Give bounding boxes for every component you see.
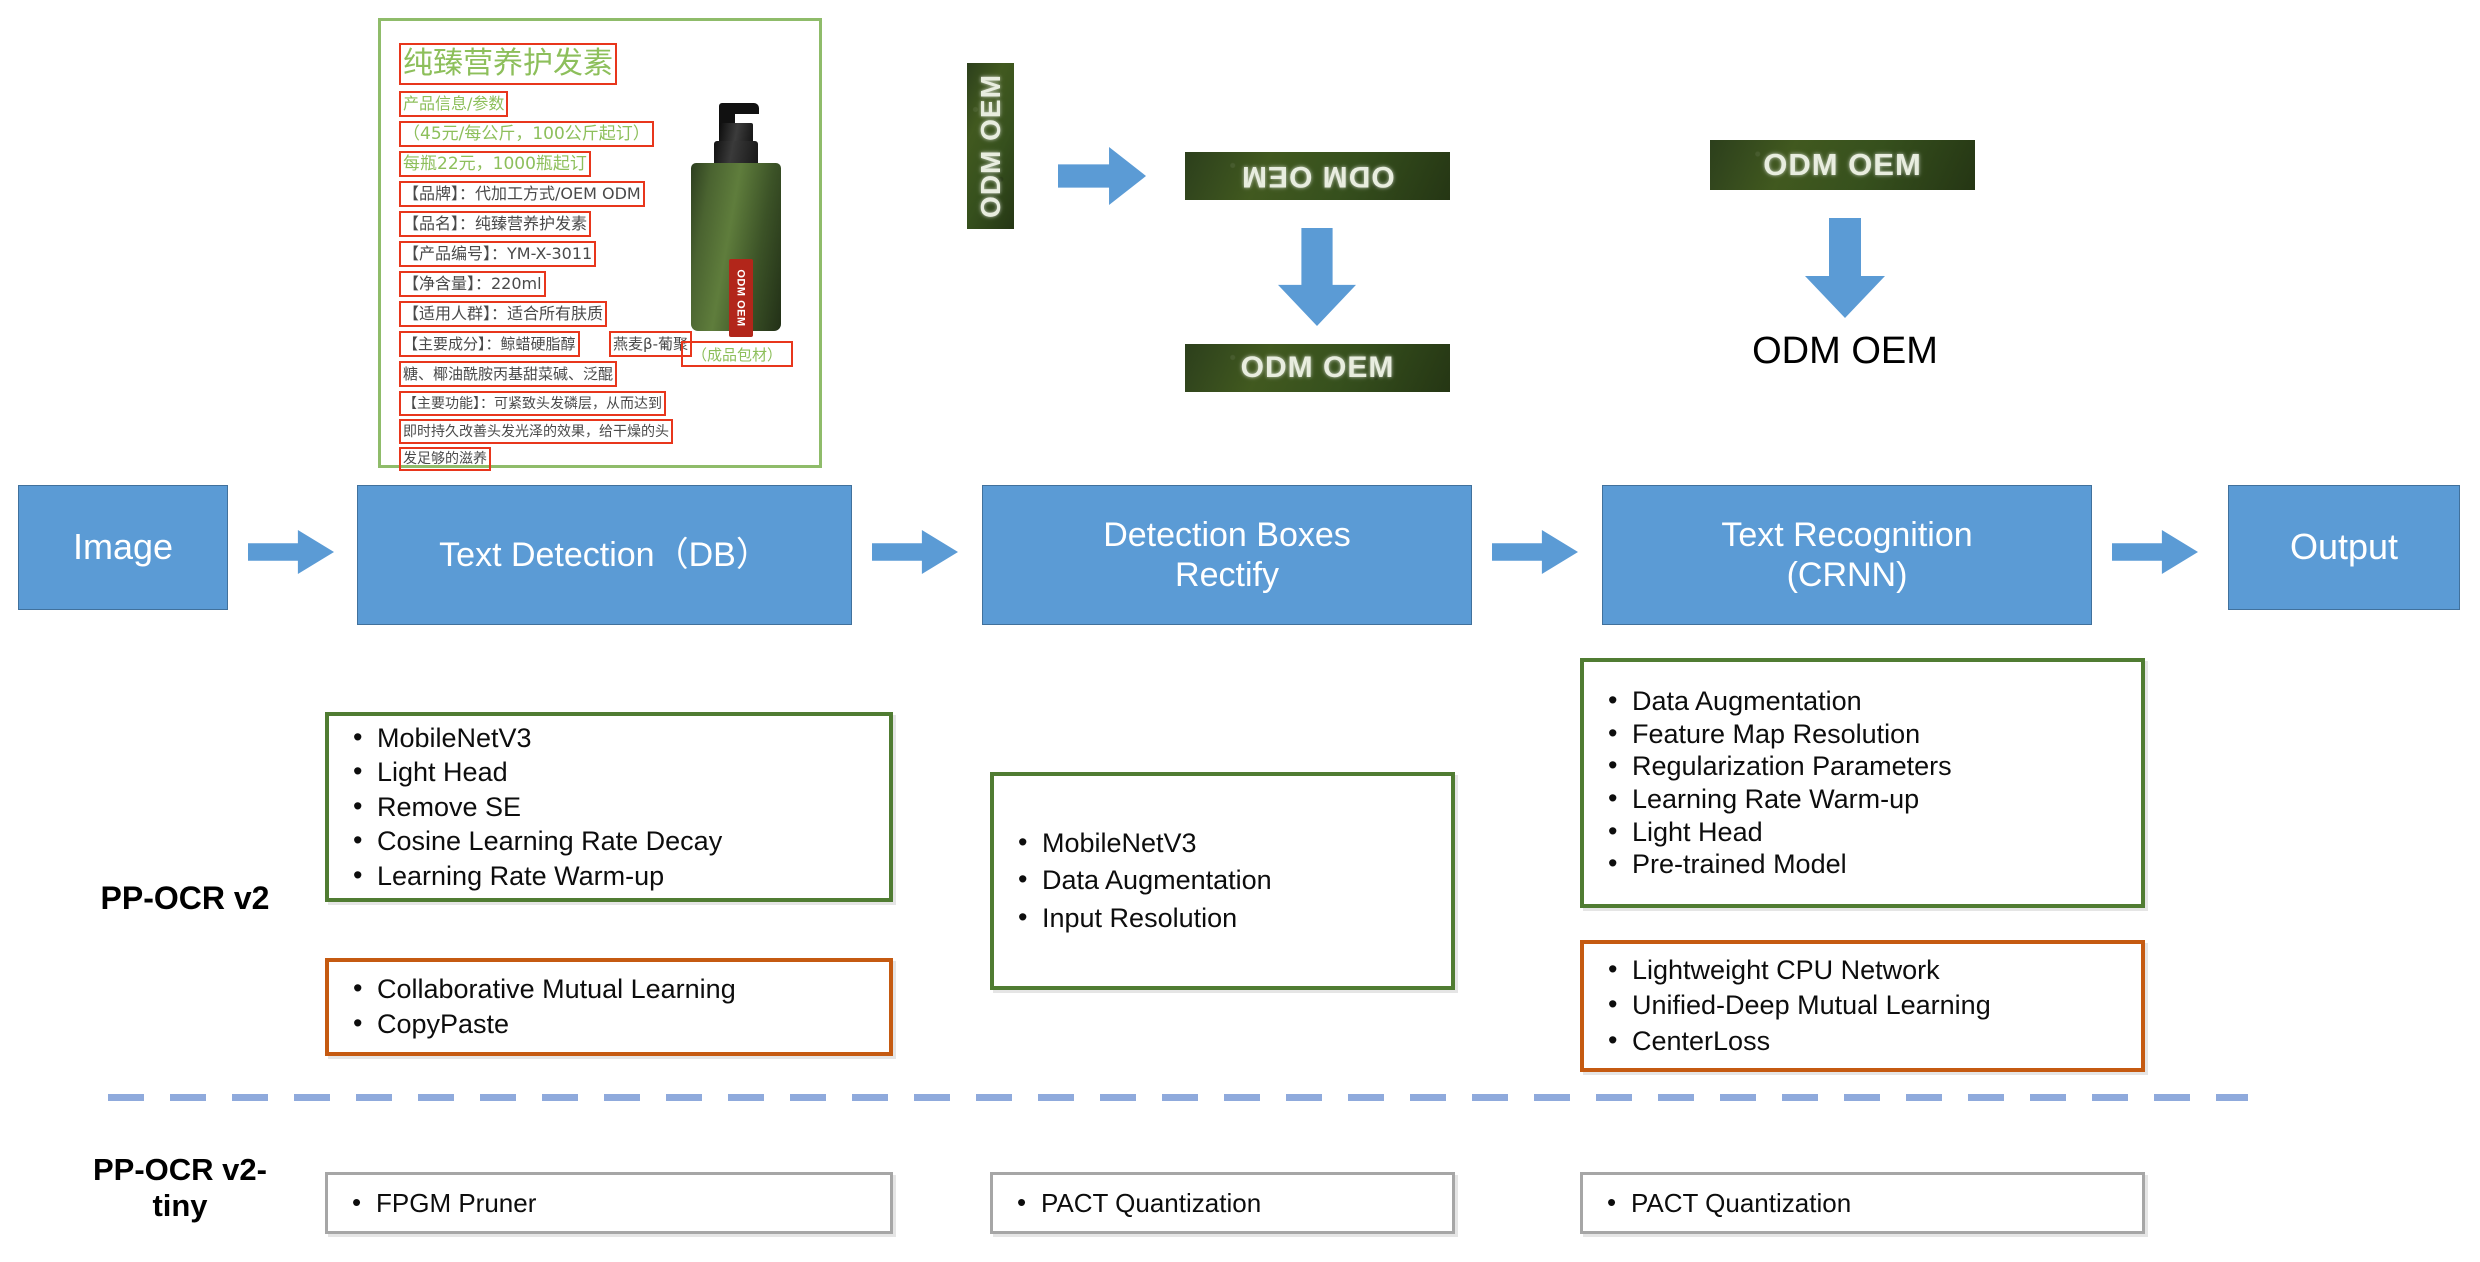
bottle-label: ODM OEM	[729, 259, 753, 337]
feature-box-recognition-orange: Lightweight CPU Network Unified-Deep Mut…	[1580, 940, 2145, 1072]
feature-item: PACT Quantization	[1601, 1188, 2128, 1219]
ocr-line: 发足够的滋养	[399, 447, 491, 471]
feature-list: MobileNetV3 Light Head Remove SE Cosine …	[347, 721, 875, 894]
product-bottle-illustration: ODM OEM	[683, 101, 789, 331]
feature-box-detection-orange: Collaborative Mutual Learning CopyPaste	[325, 958, 893, 1056]
arrow-right-icon	[872, 530, 958, 574]
feature-box-tiny-recognition: PACT Quantization	[1580, 1172, 2145, 1234]
arrow-right-icon	[1058, 147, 1146, 205]
stage-recognition-line2: (CRNN)	[1721, 555, 1972, 595]
feature-item: PACT Quantization	[1011, 1188, 1438, 1219]
ocr-line: 【净含量】：220ml	[399, 271, 546, 297]
arrow-right-icon	[248, 530, 334, 574]
feature-item: Data Augmentation	[1602, 685, 2127, 718]
ocr-line: 每瓶22元，1000瓶起订	[399, 151, 591, 177]
stage-image[interactable]: Image	[18, 485, 228, 610]
row-label-line2: tiny	[30, 1188, 330, 1224]
row-label-line1: PP-OCR v2-	[30, 1152, 330, 1188]
stage-rectify-line2: Rectify	[1103, 555, 1351, 595]
ocr-line: 【品名】：纯臻营养护发素	[399, 211, 591, 237]
ocr-line: 【产品编号】：YM-X-3011	[399, 241, 596, 267]
feature-list: FPGM Pruner	[346, 1188, 876, 1219]
feature-box-tiny-detection: FPGM Pruner	[325, 1172, 893, 1234]
ocr-line: 纯臻营养护发素	[399, 43, 617, 85]
feature-box-tiny-rectify: PACT Quantization	[990, 1172, 1455, 1234]
stage-rectify-line1: Detection Boxes	[1103, 515, 1351, 555]
ocr-line: 燕麦β-葡聚	[609, 331, 692, 357]
feature-item: Cosine Learning Rate Decay	[347, 824, 875, 859]
ocr-line: （45元/每公斤，100公斤起订）	[399, 121, 654, 147]
sample-detection-image: 纯臻营养护发素 产品信息/参数 （45元/每公斤，100公斤起订） 每瓶22元，…	[378, 18, 822, 468]
stage-output[interactable]: Output	[2228, 485, 2460, 610]
ocr-line: 【主要成分】：鲸蜡硬脂醇	[399, 331, 580, 357]
feature-item: MobileNetV3	[347, 721, 875, 756]
feature-item: Pre-trained Model	[1602, 848, 2127, 881]
feature-list: Data Augmentation Feature Map Resolution…	[1602, 685, 2127, 881]
arrow-right-icon	[1492, 530, 1578, 574]
feature-item: MobileNetV3	[1012, 825, 1437, 862]
crop-recognition-input-text: ODM OEM	[1763, 147, 1922, 183]
feature-list: Collaborative Mutual Learning CopyPaste	[347, 972, 875, 1042]
recognition-output-text: ODM OEM	[1700, 330, 1990, 373]
diagram-canvas: 纯臻营养护发素 产品信息/参数 （45元/每公斤，100公斤起订） 每瓶22元，…	[0, 0, 2480, 1262]
feature-item: Learning Rate Warm-up	[347, 859, 875, 894]
ocr-line: 【品牌】：代加工方式/OEM ODM	[399, 181, 645, 207]
arrow-right-icon	[2112, 530, 2198, 574]
feature-list: PACT Quantization	[1601, 1188, 2128, 1219]
ocr-line: 【主要功能】：可紧致头发磷层，从而达到	[399, 391, 666, 416]
feature-item: Feature Map Resolution	[1602, 718, 2127, 751]
stage-text-recognition[interactable]: Text Recognition (CRNN)	[1602, 485, 2092, 625]
feature-item: Data Augmentation	[1012, 862, 1437, 899]
feature-item: Regularization Parameters	[1602, 750, 2127, 783]
feature-item: Lightweight CPU Network	[1602, 953, 2127, 988]
row-label-ppocr-v2-tiny: PP-OCR v2- tiny	[30, 1152, 330, 1224]
feature-item: CopyPaste	[347, 1007, 875, 1042]
ocr-line: 产品信息/参数	[399, 91, 508, 117]
crop-rotated-odm-oem: ODM OEM	[1185, 152, 1450, 200]
feature-item: Collaborative Mutual Learning	[347, 972, 875, 1007]
feature-item: Light Head	[1602, 816, 2127, 849]
arrow-down-icon	[1805, 218, 1885, 318]
bottle-body: ODM OEM	[691, 163, 781, 331]
crop-rotated-text: ODM OEM	[1241, 159, 1395, 193]
crop-rectified-text: ODM OEM	[1241, 351, 1395, 385]
ocr-line: 糖、椰油酰胺丙基甜菜碱、泛醌	[399, 361, 617, 387]
stage-recognition-line1: Text Recognition	[1721, 515, 1972, 555]
crop-recognition-input: ODM OEM	[1710, 140, 1975, 190]
feature-box-recognition-green: Data Augmentation Feature Map Resolution…	[1580, 658, 2145, 908]
feature-item: CenterLoss	[1602, 1024, 2127, 1059]
feature-list: PACT Quantization	[1011, 1188, 1438, 1219]
ocr-line: 【适用人群】：适合所有肤质	[399, 301, 607, 327]
feature-box-detection-green: MobileNetV3 Light Head Remove SE Cosine …	[325, 712, 893, 902]
row-label-ppocr-v2: PP-OCR v2	[40, 880, 330, 917]
section-divider	[108, 1094, 2248, 1101]
crop-vertical-odm-oem: ODM OEM	[967, 63, 1014, 229]
feature-item: Unified-Deep Mutual Learning	[1602, 988, 2127, 1023]
ocr-line: 即时持久改善头发光泽的效果，给干燥的头	[399, 419, 673, 444]
stage-text-detection[interactable]: Text Detection（DB）	[357, 485, 852, 625]
arrow-down-icon	[1278, 228, 1356, 326]
crop-vertical-text: ODM OEM	[975, 74, 1007, 218]
crop-rectified-odm-oem: ODM OEM	[1185, 344, 1450, 392]
feature-box-rectify-green: MobileNetV3 Data Augmentation Input Reso…	[990, 772, 1455, 990]
bottle-label-text: ODM OEM	[735, 269, 747, 326]
feature-list: Lightweight CPU Network Unified-Deep Mut…	[1602, 953, 2127, 1058]
feature-item: Remove SE	[347, 790, 875, 825]
ocr-line-package-tag: （成品包材）	[681, 341, 793, 367]
feature-list: MobileNetV3 Data Augmentation Input Reso…	[1012, 825, 1437, 937]
stage-detection-boxes-rectify[interactable]: Detection Boxes Rectify	[982, 485, 1472, 625]
feature-item: FPGM Pruner	[346, 1188, 876, 1219]
feature-item: Light Head	[347, 755, 875, 790]
feature-item: Learning Rate Warm-up	[1602, 783, 2127, 816]
feature-item: Input Resolution	[1012, 900, 1437, 937]
